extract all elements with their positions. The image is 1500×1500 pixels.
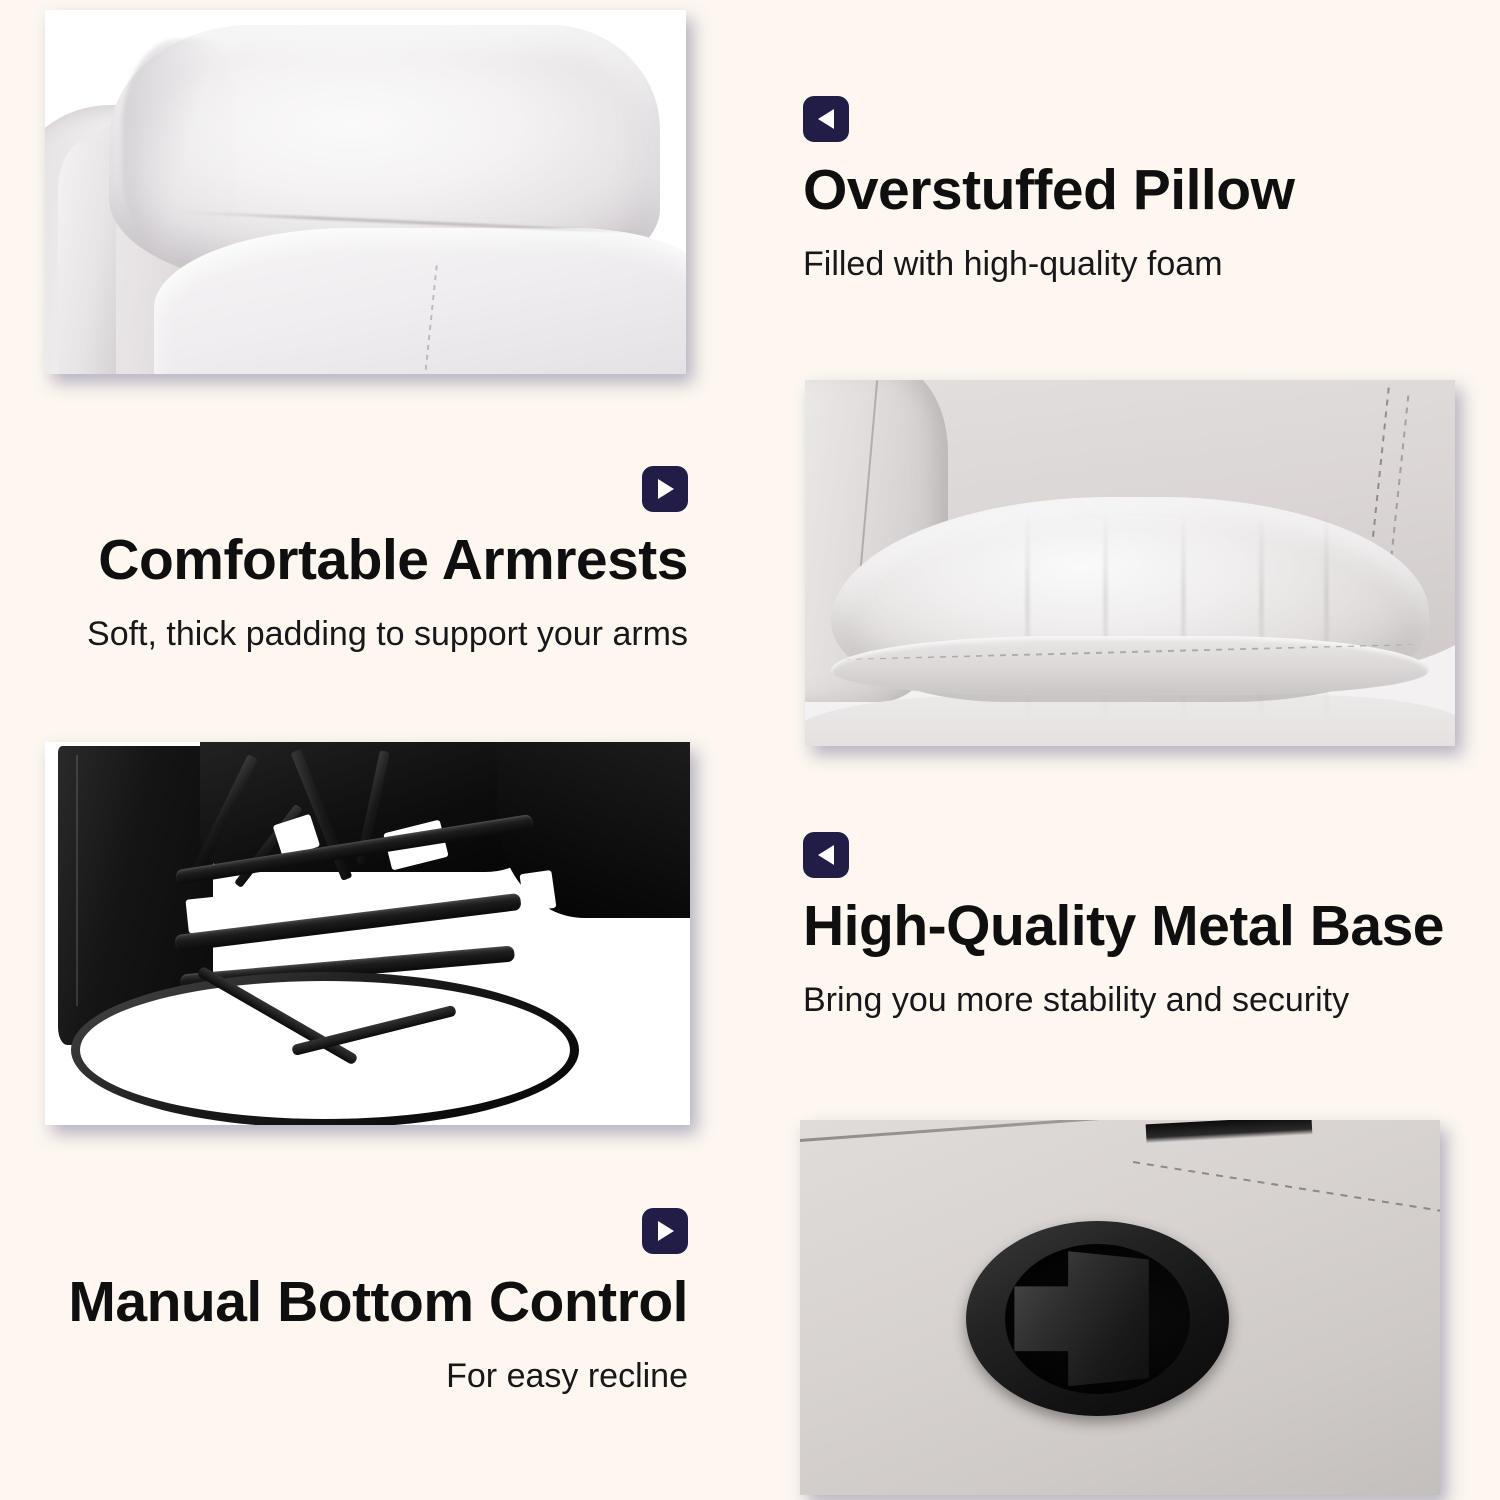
feature-block-high-quality-metal-base: High-Quality Metal Base Bring you more s… xyxy=(803,832,1443,1020)
pillow-crease xyxy=(1325,512,1328,724)
cushion-fold-shading xyxy=(122,39,237,257)
triangle-left-icon xyxy=(803,832,849,878)
feature-title: Manual Bottom Control xyxy=(48,1272,688,1334)
chair-arm-shape xyxy=(58,141,116,374)
frame-gap xyxy=(520,870,557,912)
triangle-right-icon xyxy=(642,466,688,512)
triangle-left-icon xyxy=(803,96,849,142)
feature-title: High-Quality Metal Base xyxy=(803,896,1443,958)
feature-title: Comfortable Armrests xyxy=(48,530,688,592)
photo-comfortable-armrests xyxy=(805,380,1455,746)
photo-overstuffed-pillow xyxy=(45,10,686,374)
feature-block-comfortable-armrests: Comfortable Armrests Soft, thick padding… xyxy=(48,466,688,654)
feature-subtitle: Filled with high-quality foam xyxy=(803,244,1443,285)
feature-subtitle: Soft, thick padding to support your arms xyxy=(48,614,688,655)
infographic-canvas: Overstuffed Pillow Filled with high-qual… xyxy=(0,0,1500,1500)
feature-subtitle: Bring you more stability and security xyxy=(803,980,1443,1021)
seat-base-shape xyxy=(805,695,1455,746)
feature-title: Overstuffed Pillow xyxy=(803,160,1443,222)
triangle-right-icon xyxy=(642,1208,688,1254)
seat-back-lower-shape xyxy=(154,228,686,374)
photo-manual-bottom-control xyxy=(800,1120,1440,1495)
feature-block-overstuffed-pillow: Overstuffed Pillow Filled with high-qual… xyxy=(803,96,1443,284)
photo-high-quality-metal-base xyxy=(45,742,690,1125)
feature-subtitle: For easy recline xyxy=(48,1356,688,1397)
feature-block-manual-bottom-control: Manual Bottom Control For easy recline xyxy=(48,1208,688,1396)
